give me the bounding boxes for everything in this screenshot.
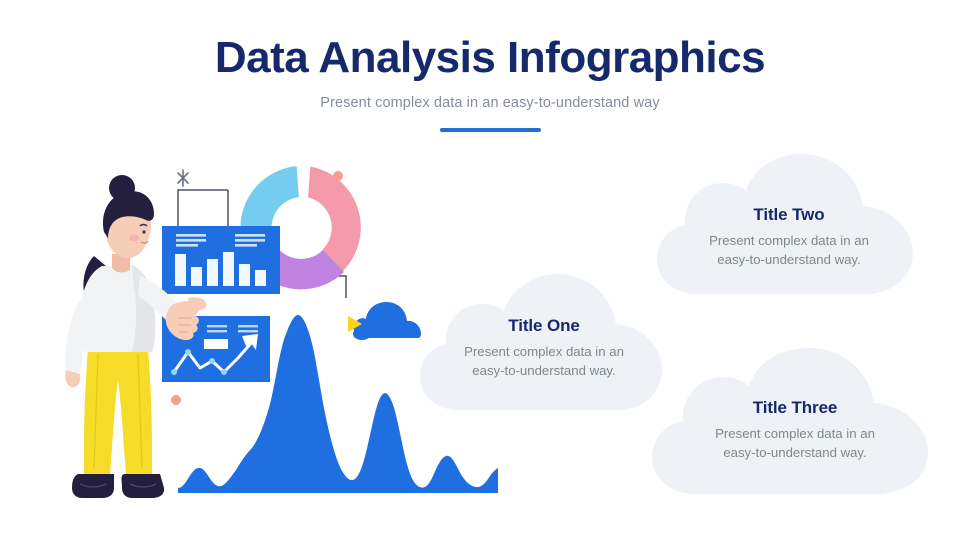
page-subtitle: Present complex data in an easy-to-under… bbox=[0, 95, 980, 111]
character-woman bbox=[65, 175, 206, 498]
cloud-card-three[interactable]: Title Three Present complex data in an e… bbox=[650, 346, 940, 498]
cloud-card-three-text: Title Three Present complex data in an e… bbox=[650, 398, 940, 462]
cloud-card-three-body-line-1: Present complex data in an bbox=[650, 425, 940, 444]
cloud-card-one[interactable]: Title One Present complex data in an eas… bbox=[418, 272, 670, 414]
header: Data Analysis Infographics Present compl… bbox=[0, 34, 980, 132]
cloud-card-one-body-line-2: easy-to-understand way. bbox=[418, 362, 670, 381]
cloud-card-one-title: Title One bbox=[418, 316, 670, 336]
cloud-card-three-title: Title Three bbox=[650, 398, 940, 418]
bar-chart-card bbox=[162, 226, 280, 294]
hair-bun bbox=[109, 175, 135, 201]
cloud-card-two-body-line-2: easy-to-understand way. bbox=[655, 251, 923, 270]
cloud-card-two-body-line-1: Present complex data in an bbox=[655, 232, 923, 251]
sparkle-icon bbox=[178, 170, 188, 186]
accent-rule bbox=[440, 128, 541, 132]
cloud-card-two[interactable]: Title Two Present complex data in an eas… bbox=[655, 152, 923, 298]
cloud-card-three-body-line-2: easy-to-understand way. bbox=[650, 444, 940, 463]
cloud-card-two-title: Title Two bbox=[655, 205, 923, 225]
infographic-slide: Data Analysis Infographics Present compl… bbox=[0, 0, 980, 551]
cloud-card-two-text: Title Two Present complex data in an eas… bbox=[655, 205, 923, 269]
cloud-card-one-text: Title One Present complex data in an eas… bbox=[418, 316, 670, 380]
salmon-dot-top bbox=[333, 171, 343, 181]
blue-cloud-icon bbox=[353, 302, 421, 340]
cloud-card-one-body-line-1: Present complex data in an bbox=[418, 343, 670, 362]
page-title: Data Analysis Infographics bbox=[0, 34, 980, 82]
salmon-dot-bottom bbox=[171, 395, 181, 405]
